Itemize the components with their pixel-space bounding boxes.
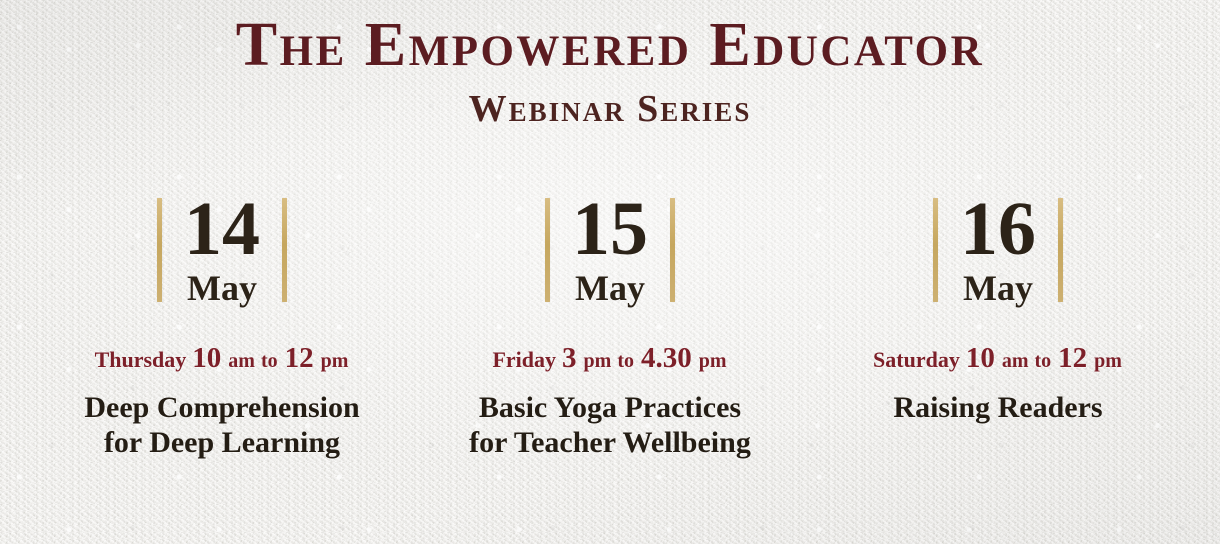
session-title: Deep Comprehension for Deep Learning (84, 390, 359, 460)
session-title-line-2: for Teacher Wellbeing (469, 425, 751, 460)
date-core: 15 May (572, 196, 648, 304)
gold-rule-right-icon (282, 198, 287, 302)
session-card: 16 May Saturday 10 am to 12 pm Raising R… (804, 196, 1192, 425)
session-end-time: 4.30 (641, 342, 692, 374)
date-plate: 14 May (157, 196, 287, 304)
session-title-line-1: Deep Comprehension (84, 390, 359, 425)
session-end-meridiem: pm (1094, 350, 1122, 372)
session-start-time: 10 (966, 342, 995, 374)
session-schedule: Thursday 10 am to 12 pm (95, 344, 350, 373)
session-schedule: Saturday 10 am to 12 pm (873, 344, 1123, 373)
session-start-meridiem: am (1002, 350, 1029, 372)
session-day-number: 14 (184, 196, 260, 263)
session-start-time: 10 (192, 342, 221, 374)
session-end-meridiem: pm (699, 350, 727, 372)
date-plate: 15 May (545, 196, 675, 304)
gold-rule-left-icon (157, 198, 162, 302)
session-time-join: to (1035, 350, 1052, 372)
gold-rule-right-icon (670, 198, 675, 302)
session-start-meridiem: pm (584, 350, 612, 372)
gold-rule-left-icon (933, 198, 938, 302)
session-month: May (963, 270, 1033, 306)
gold-rule-left-icon (545, 198, 550, 302)
session-day-number: 15 (572, 196, 648, 263)
session-card: 14 May Thursday 10 am to 12 pm Deep Comp… (28, 196, 416, 460)
session-weekday: Thursday (95, 347, 187, 372)
session-schedule: Friday 3 pm to 4.30 pm (492, 344, 727, 373)
session-title: Raising Readers (893, 390, 1102, 425)
session-day-number: 16 (960, 196, 1036, 263)
page-title: The Empowered Educator (0, 14, 1220, 76)
session-weekday: Saturday (873, 347, 960, 372)
page-subtitle: Webinar Series (0, 90, 1220, 128)
session-start-meridiem: am (228, 350, 255, 372)
date-core: 16 May (960, 196, 1036, 304)
date-plate: 16 May (933, 196, 1063, 304)
session-month: May (187, 270, 257, 306)
session-card: 15 May Friday 3 pm to 4.30 pm Basic Yoga… (416, 196, 804, 460)
session-weekday: Friday (492, 347, 556, 372)
date-core: 14 May (184, 196, 260, 304)
gold-rule-right-icon (1058, 198, 1063, 302)
session-title-line-1: Raising Readers (893, 390, 1102, 425)
session-time-join: to (261, 350, 278, 372)
session-start-time: 3 (562, 342, 577, 374)
session-list: 14 May Thursday 10 am to 12 pm Deep Comp… (0, 196, 1220, 460)
session-end-time: 12 (1058, 342, 1087, 374)
session-end-time: 12 (285, 342, 314, 374)
webinar-series-poster: The Empowered Educator Webinar Series 14… (0, 0, 1220, 544)
session-time-join: to (617, 350, 634, 372)
session-title-line-2: for Deep Learning (84, 425, 359, 460)
poster-header: The Empowered Educator Webinar Series (0, 0, 1220, 128)
session-title-line-1: Basic Yoga Practices (469, 390, 751, 425)
session-end-meridiem: pm (321, 350, 349, 372)
session-title: Basic Yoga Practices for Teacher Wellbei… (469, 390, 751, 460)
session-month: May (575, 270, 645, 306)
